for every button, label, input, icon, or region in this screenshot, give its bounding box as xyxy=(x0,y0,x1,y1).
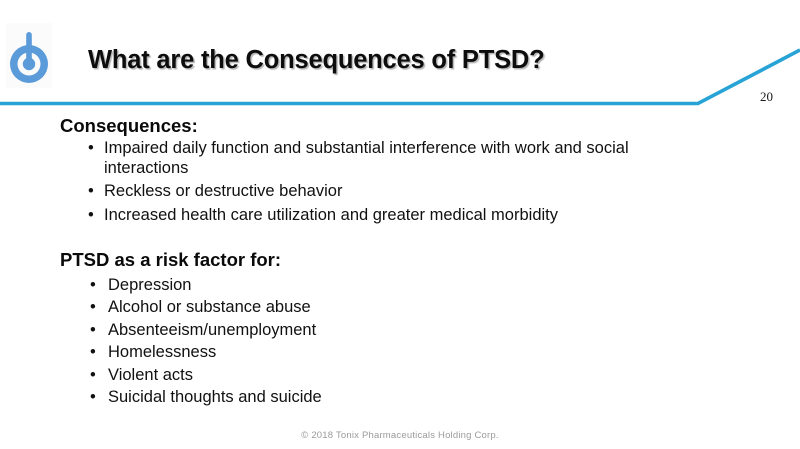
list-item-label: Alcohol or substance abuse xyxy=(108,298,311,316)
tonix-power-logo-icon xyxy=(6,23,52,88)
page-number: 20 xyxy=(760,89,773,105)
list-item-label: Reckless or destructive behavior xyxy=(104,182,342,200)
bullet-icon: • xyxy=(90,386,96,408)
list-item-label: Increased health care utilization and gr… xyxy=(104,206,558,224)
list-item-label: Impaired daily function and substantial … xyxy=(104,139,629,177)
list-item-label: Suicidal thoughts and suicide xyxy=(108,388,322,406)
list-item: • Impaired daily function and substantia… xyxy=(88,139,708,178)
list-item: • Depression xyxy=(90,274,510,296)
footer-copyright: © 2018 Tonix Pharmaceuticals Holding Cor… xyxy=(0,430,800,441)
bullet-icon: • xyxy=(90,341,96,363)
list-item-label: Homelessness xyxy=(108,343,216,361)
section-heading-consequences: Consequences: xyxy=(60,115,198,137)
list-item-label: Depression xyxy=(108,276,191,294)
list-item: • Homelessness xyxy=(90,341,510,363)
bullet-icon: • xyxy=(90,296,96,318)
list-item: • Violent acts xyxy=(90,364,510,386)
bullet-icon: • xyxy=(90,274,96,296)
list-item: • Suicidal thoughts and suicide xyxy=(90,386,510,408)
presentation-slide: What are the Consequences of PTSD? 20 Co… xyxy=(0,0,800,449)
bullet-icon: • xyxy=(90,319,96,341)
bullet-icon: • xyxy=(88,206,94,226)
bullet-list-risk-factors: • Depression • Alcohol or substance abus… xyxy=(90,274,510,408)
logo-container xyxy=(6,23,52,88)
bullet-icon: • xyxy=(88,182,94,202)
bullet-icon: • xyxy=(90,364,96,386)
list-item-label: Absenteeism/unemployment xyxy=(108,321,316,339)
section-heading-risk-factor: PTSD as a risk factor for: xyxy=(60,249,281,271)
bullet-list-consequences: • Impaired daily function and substantia… xyxy=(88,139,708,229)
list-item: • Reckless or destructive behavior xyxy=(88,182,708,202)
bullet-icon: • xyxy=(88,139,94,159)
list-item: • Increased health care utilization and … xyxy=(88,206,708,226)
list-item: • Alcohol or substance abuse xyxy=(90,296,510,318)
list-item: • Absenteeism/unemployment xyxy=(90,319,510,341)
list-item-label: Violent acts xyxy=(108,366,193,384)
page-title: What are the Consequences of PTSD? xyxy=(88,46,545,75)
